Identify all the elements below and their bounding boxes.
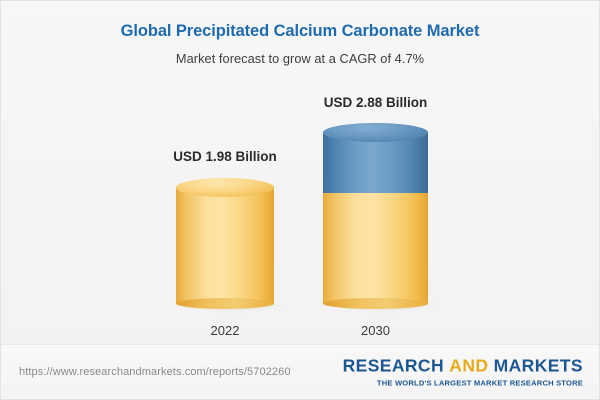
bar-value-label-2030: USD 2.88 Billion: [324, 95, 428, 110]
brand-logo[interactable]: RESEARCH AND MARKETS THE WORLD'S LARGEST…: [343, 357, 583, 386]
segment-top-cap: [323, 123, 428, 142]
bar-value-label-2022: USD 1.98 Billion: [173, 149, 277, 164]
bar-segment-growth-2030: [323, 132, 428, 193]
brand-name: RESEARCH AND MARKETS: [343, 357, 583, 375]
bar-group-2030: USD 2.88 Billion 2030: [323, 1, 428, 346]
brand-word-and: AND: [449, 355, 488, 375]
bar-segment-base-2022: [176, 187, 274, 304]
cylinder-2030[interactable]: [323, 123, 428, 304]
segment-top-cap: [176, 178, 274, 197]
chart-footer: https://www.researchandmarkets.com/repor…: [1, 344, 599, 399]
axis-label-2022: 2022: [211, 323, 240, 338]
segment-bottom-edge: [323, 298, 428, 309]
segment-body: [176, 187, 274, 304]
chart-plot-area: USD 1.98 Billion 2022 USD 2.88 Billion: [1, 1, 600, 346]
brand-tagline: THE WORLD'S LARGEST MARKET RESEARCH STOR…: [343, 379, 583, 387]
brand-word-research: RESEARCH: [343, 355, 444, 375]
axis-label-2030: 2030: [361, 323, 390, 338]
segment-body: [323, 191, 428, 304]
bar-group-2022: USD 1.98 Billion 2022: [176, 1, 274, 346]
chart-canvas: Global Precipitated Calcium Carbonate Ma…: [0, 0, 600, 400]
segment-bottom-edge: [176, 298, 274, 309]
bar-segment-base-2030: [323, 191, 428, 304]
cylinder-2022[interactable]: [176, 178, 274, 304]
brand-word-markets: MARKETS: [494, 355, 583, 375]
source-url-link[interactable]: https://www.researchandmarkets.com/repor…: [19, 366, 291, 378]
